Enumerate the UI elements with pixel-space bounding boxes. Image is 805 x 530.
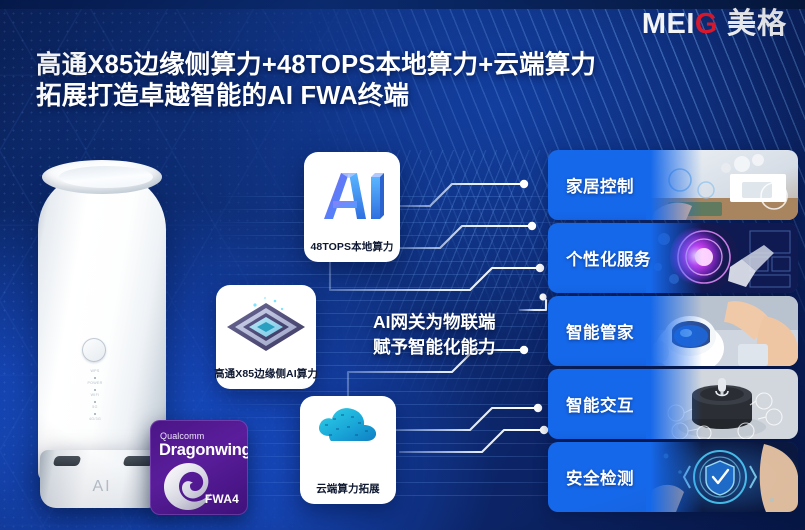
panel-label-security-detection: 安全检测 (566, 465, 634, 489)
panel-art-blend-2 (646, 223, 702, 293)
panel-label-home-control: 家居控制 (566, 173, 634, 197)
panel-art-blend-5 (646, 442, 702, 512)
panel-label-smart-butler: 智能管家 (566, 319, 634, 343)
panel-label-smart-interaction: 智能交互 (566, 392, 634, 416)
poster-canvas: MEIG 美格 高通X85边缘侧算力+48TOPS本地算力+云端算力 拓展打造卓… (0, 0, 805, 530)
panel-art-blend-4 (646, 369, 702, 439)
panel-art-blend-3 (646, 296, 702, 366)
panel-label-personalized-service: 个性化服务 (566, 246, 651, 270)
panel-art-blend-1 (646, 150, 702, 220)
